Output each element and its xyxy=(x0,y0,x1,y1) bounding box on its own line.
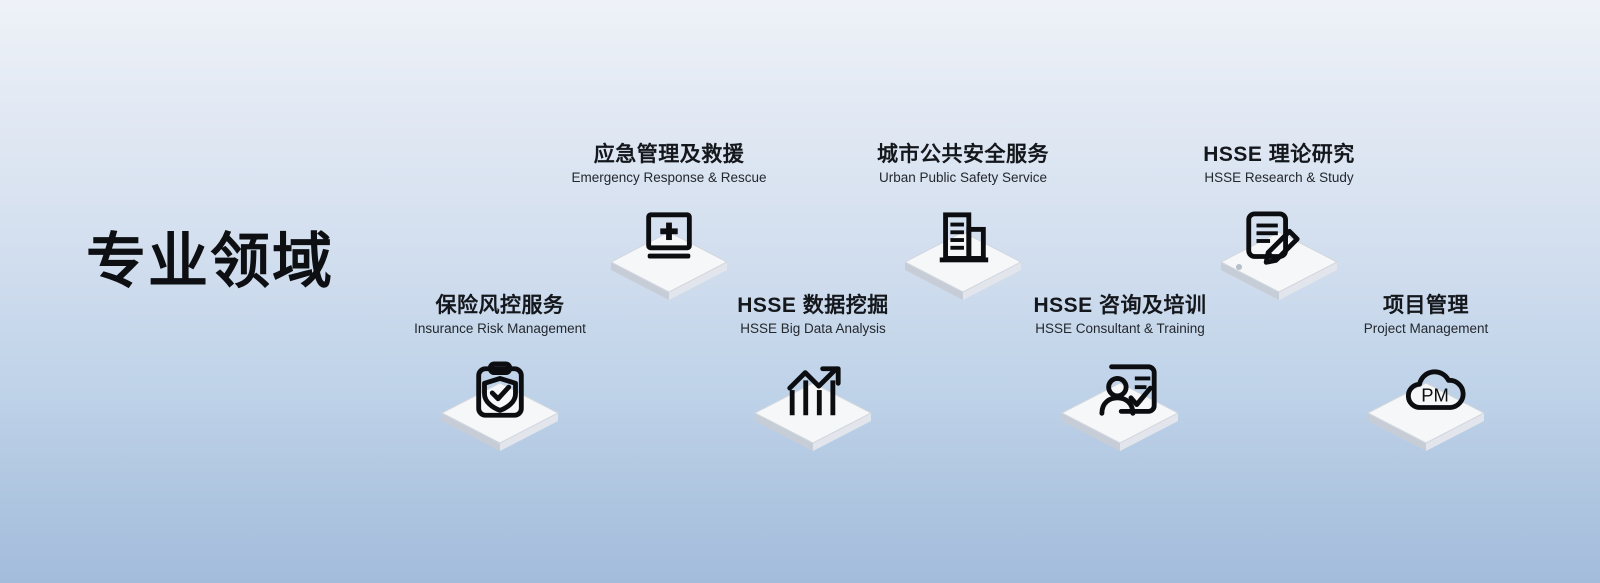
cloud-pm-icon: PM xyxy=(1404,361,1466,423)
document-pencil-icon xyxy=(1241,210,1303,272)
field-label-en: HSSE Big Data Analysis xyxy=(663,322,963,337)
field-item-urban-public-safety-service[interactable]: 城市公共安全服务 Urban Public Safety Service xyxy=(813,144,1113,306)
buildings-icon xyxy=(932,210,994,272)
field-label-cn: HSSE 咨询及培训 xyxy=(970,295,1270,317)
field-item-hsse-consultant-training[interactable]: HSSE 咨询及培训 HSSE Consultant & Training xyxy=(970,295,1270,457)
field-item-hsse-big-data-analysis[interactable]: HSSE 数据挖掘 HSSE Big Data Analysis xyxy=(663,295,963,457)
professional-fields-banner: 专业领域 应急管理及救援 Emergency Response & Rescue xyxy=(0,0,1600,583)
field-artwork xyxy=(663,347,963,457)
svg-text:PM: PM xyxy=(1421,385,1449,406)
field-label-cn: HSSE 理论研究 xyxy=(1129,144,1429,166)
field-item-hsse-research-study[interactable]: HSSE 理论研究 HSSE Research & Study xyxy=(1129,144,1429,306)
field-label-cn: 项目管理 xyxy=(1276,295,1576,317)
field-label-en: HSSE Consultant & Training xyxy=(970,322,1270,337)
clipboard-shield-check-icon xyxy=(469,361,531,423)
page-title: 专业领域 xyxy=(86,232,334,292)
bar-chart-trend-icon xyxy=(782,361,844,423)
field-label-en: Project Management xyxy=(1276,322,1576,337)
field-artwork xyxy=(970,347,1270,457)
field-label-cn: 应急管理及救援 xyxy=(519,144,819,166)
field-artwork xyxy=(350,347,650,457)
field-label-cn: 保险风控服务 xyxy=(350,295,650,317)
field-label-en: Urban Public Safety Service xyxy=(813,171,1113,186)
field-label-en: HSSE Research & Study xyxy=(1129,171,1429,186)
field-label-cn: 城市公共安全服务 xyxy=(813,144,1113,166)
field-label-en: Insurance Risk Management xyxy=(350,322,650,337)
monitor-plus-icon xyxy=(638,210,700,272)
person-card-check-icon xyxy=(1098,361,1160,423)
field-artwork xyxy=(519,196,819,306)
field-artwork: PM xyxy=(1276,347,1576,457)
field-item-insurance-risk-management[interactable]: 保险风控服务 Insurance Risk Management xyxy=(350,295,650,457)
field-artwork xyxy=(1129,196,1429,306)
field-label-en: Emergency Response & Rescue xyxy=(519,171,819,186)
field-artwork xyxy=(813,196,1113,306)
field-label-cn: HSSE 数据挖掘 xyxy=(663,295,963,317)
field-item-project-management[interactable]: 项目管理 Project Management PM xyxy=(1276,295,1576,457)
field-item-emergency-response-rescue[interactable]: 应急管理及救援 Emergency Response & Rescue xyxy=(519,144,819,306)
